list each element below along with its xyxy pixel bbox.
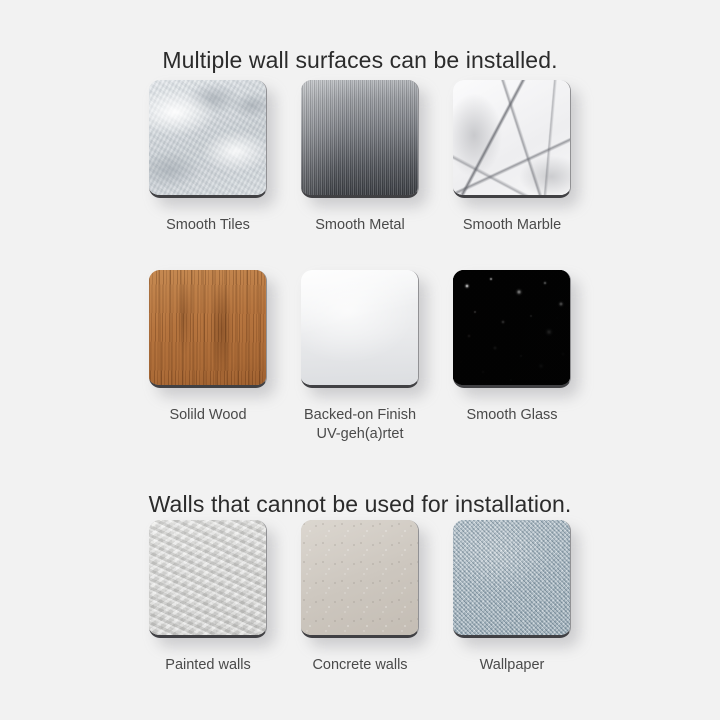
swatch-label-smooth-marble: Smooth Marble	[437, 216, 587, 235]
swatch-label-wallpaper: Wallpaper	[437, 656, 587, 675]
swatch-tile-wallpaper[interactable]	[453, 520, 571, 638]
swatch-tile-smooth-metal[interactable]	[301, 80, 419, 198]
section-heading-supported: Multiple wall surfaces can be installed.	[0, 47, 720, 75]
swatch-cell-smooth-marble[interactable]: Smooth Marble	[447, 80, 577, 235]
swatch-label-baked-on-finish: Backed-on Finish UV-geh(a)rtet	[285, 406, 435, 443]
swatch-cell-painted-walls[interactable]: Painted walls	[143, 520, 273, 675]
swatch-shadow-wrapper	[453, 80, 571, 198]
swatch-shadow-wrapper	[453, 270, 571, 388]
texture-woven-wallpaper	[453, 520, 570, 635]
swatch-label-smooth-glass: Smooth Glass	[437, 406, 587, 425]
swatch-label-painted-walls: Painted walls	[133, 656, 283, 675]
swatch-cell-wallpaper[interactable]: Wallpaper	[447, 520, 577, 675]
swatch-row-supported-2: Solild Wood Backed-on Finish UV-geh(a)rt…	[0, 270, 720, 443]
swatch-shadow-wrapper	[453, 520, 571, 638]
texture-wood-grain	[149, 270, 266, 385]
texture-concrete-stipple	[301, 520, 418, 635]
swatch-cell-concrete-walls[interactable]: Concrete walls	[295, 520, 425, 675]
swatch-row-supported-1: Smooth Tiles Smooth Metal Smooth Marble	[0, 80, 720, 235]
swatch-label-smooth-tiles: Smooth Tiles	[133, 216, 283, 235]
swatch-shadow-wrapper	[301, 520, 419, 638]
swatch-shadow-wrapper	[149, 520, 267, 638]
swatch-shadow-wrapper	[301, 270, 419, 388]
section-heading-unsupported: Walls that cannot be used for installati…	[0, 491, 720, 519]
swatch-label-solid-wood: Solild Wood	[133, 406, 283, 425]
texture-painted-plaster	[149, 520, 266, 635]
swatch-cell-solid-wood[interactable]: Solild Wood	[143, 270, 273, 443]
texture-baked-enamel	[301, 270, 418, 385]
swatch-tile-concrete-walls[interactable]	[301, 520, 419, 638]
texture-marble	[453, 80, 570, 195]
swatch-tile-painted-walls[interactable]	[149, 520, 267, 638]
swatch-tile-smooth-glass[interactable]	[453, 270, 571, 388]
swatch-label-smooth-metal: Smooth Metal	[285, 216, 435, 235]
swatch-tile-solid-wood[interactable]	[149, 270, 267, 388]
infographic-page: Multiple wall surfaces can be installed.…	[0, 0, 720, 720]
swatch-shadow-wrapper	[149, 80, 267, 198]
swatch-cell-smooth-tiles[interactable]: Smooth Tiles	[143, 80, 273, 235]
swatch-cell-baked-on-finish[interactable]: Backed-on Finish UV-geh(a)rtet	[295, 270, 425, 443]
swatch-tile-baked-on-finish[interactable]	[301, 270, 419, 388]
water-droplets-overlay	[453, 270, 570, 385]
swatch-shadow-wrapper	[301, 80, 419, 198]
swatch-tile-smooth-tiles[interactable]	[149, 80, 267, 198]
texture-tiles	[149, 80, 266, 195]
swatch-row-unsupported-1: Painted walls Concrete walls Wallpaper	[0, 520, 720, 675]
swatch-label-concrete-walls: Concrete walls	[285, 656, 435, 675]
swatch-shadow-wrapper	[149, 270, 267, 388]
swatch-tile-smooth-marble[interactable]	[453, 80, 571, 198]
swatch-cell-smooth-glass[interactable]: Smooth Glass	[447, 270, 577, 443]
swatch-cell-smooth-metal[interactable]: Smooth Metal	[295, 80, 425, 235]
texture-brushed-metal	[301, 80, 418, 195]
